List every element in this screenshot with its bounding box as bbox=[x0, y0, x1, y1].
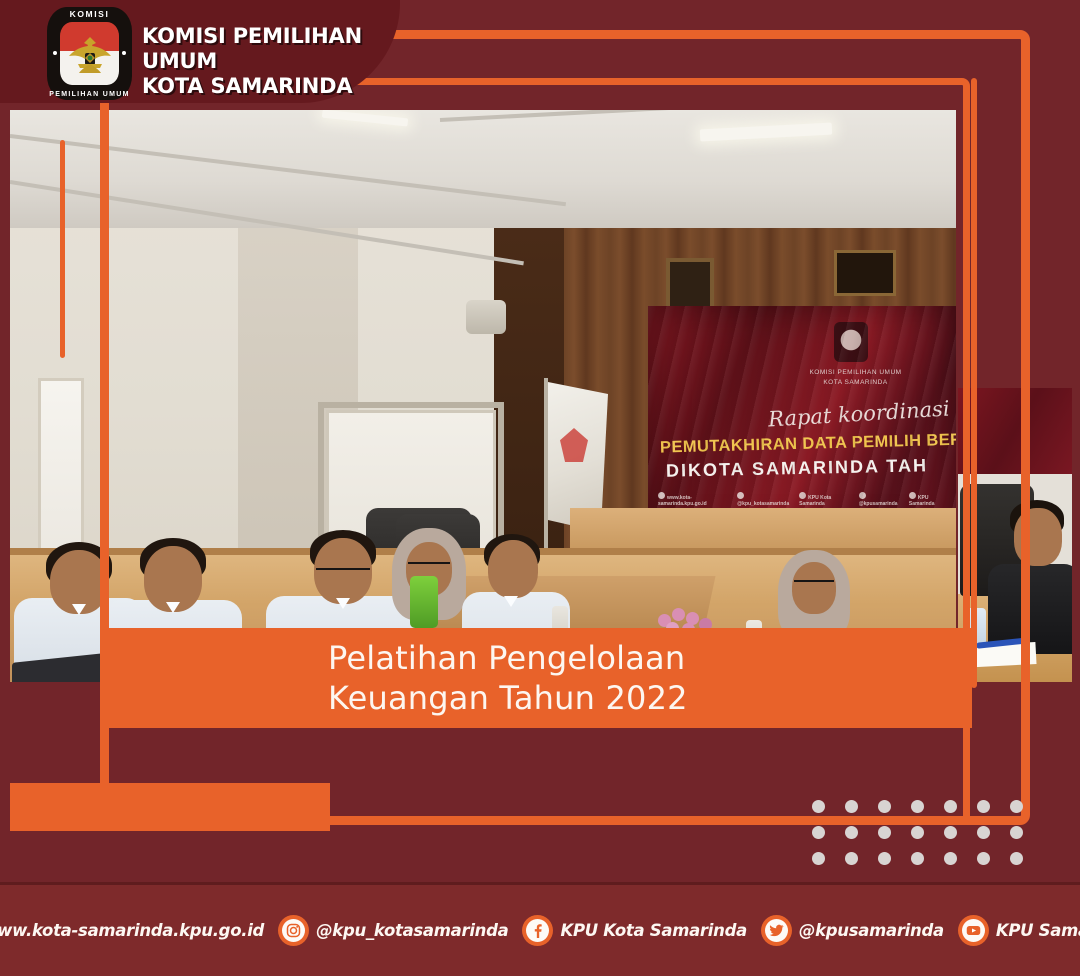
footer-twitter[interactable]: @kpusamarinda bbox=[761, 915, 944, 946]
grid-dot bbox=[812, 800, 825, 813]
grid-dot bbox=[977, 826, 990, 839]
event-title-line1: Pelatihan Pengelolaan bbox=[328, 638, 972, 678]
grid-dot bbox=[977, 852, 990, 865]
kpu-logo: KOMISI PEMILIHAN UMUM bbox=[47, 7, 132, 100]
footer-youtube[interactable]: KPU Samarinda bbox=[958, 915, 1080, 946]
grid-dot bbox=[812, 826, 825, 839]
footer-twitter-label: @kpusamarinda bbox=[799, 921, 944, 940]
header-line1: KOMISI PEMILIHAN UMUM bbox=[142, 24, 400, 74]
header-title-block: KOMISI PEMILIHAN UMUM KOTA SAMARINDA bbox=[142, 24, 400, 98]
grid-dot bbox=[812, 852, 825, 865]
grid-dot bbox=[1010, 800, 1023, 813]
logo-dot bbox=[122, 51, 126, 55]
grid-dot bbox=[944, 852, 957, 865]
grid-dot bbox=[911, 826, 924, 839]
poster-header: KOMISI PEMILIHAN UMUM KOMISI PEMILIHAN U… bbox=[0, 0, 400, 103]
grid-dot bbox=[911, 800, 924, 813]
logo-text-bottom: PEMILIHAN UMUM bbox=[47, 91, 132, 98]
instagram-icon bbox=[278, 915, 309, 946]
grid-dot bbox=[845, 826, 858, 839]
accent-line-right bbox=[971, 78, 977, 688]
footer-divider bbox=[0, 882, 1080, 885]
grid-dot bbox=[977, 800, 990, 813]
footer-instagram[interactable]: @kpu_kotasamarinda bbox=[278, 915, 508, 946]
grid-dot bbox=[911, 852, 924, 865]
accent-line-left bbox=[60, 140, 65, 358]
logo-text-top: KOMISI bbox=[47, 9, 132, 19]
footer-facebook-label: KPU Kota Samarinda bbox=[560, 921, 746, 940]
grid-dot bbox=[944, 826, 957, 839]
poster-footer: www.kota-samarinda.kpu.go.id @kpu_kotasa… bbox=[0, 885, 1080, 976]
grid-dot bbox=[878, 852, 891, 865]
grid-dot bbox=[1010, 826, 1023, 839]
footer-website-label: www.kota-samarinda.kpu.go.id bbox=[0, 921, 264, 940]
footer-website[interactable]: www.kota-samarinda.kpu.go.id bbox=[0, 915, 264, 946]
facebook-icon bbox=[522, 915, 553, 946]
youtube-icon bbox=[958, 915, 989, 946]
decorative-block-bottom-left bbox=[10, 783, 330, 831]
poster-canvas: KOMISI PEMILIHAN UMUM KOTA SAMARINDA Rap… bbox=[0, 0, 1080, 976]
footer-youtube-label: KPU Samarinda bbox=[996, 921, 1080, 940]
grid-dot bbox=[878, 800, 891, 813]
logo-dot bbox=[53, 51, 57, 55]
grid-dot bbox=[1010, 852, 1023, 865]
garuda-icon bbox=[66, 34, 114, 74]
decorative-dot-grid bbox=[812, 800, 1043, 878]
twitter-icon bbox=[761, 915, 792, 946]
event-title-banner: Pelatihan Pengelolaan Keuangan Tahun 202… bbox=[100, 628, 972, 728]
footer-facebook[interactable]: KPU Kota Samarinda bbox=[522, 915, 746, 946]
grid-dot bbox=[944, 800, 957, 813]
grid-dot bbox=[878, 826, 891, 839]
grid-dot bbox=[845, 852, 858, 865]
grid-dot bbox=[845, 800, 858, 813]
header-line2: KOTA SAMARINDA bbox=[142, 74, 400, 99]
event-title-line2: Keuangan Tahun 2022 bbox=[328, 678, 972, 718]
logo-emblem-field bbox=[60, 22, 119, 85]
footer-instagram-label: @kpu_kotasamarinda bbox=[316, 921, 508, 940]
